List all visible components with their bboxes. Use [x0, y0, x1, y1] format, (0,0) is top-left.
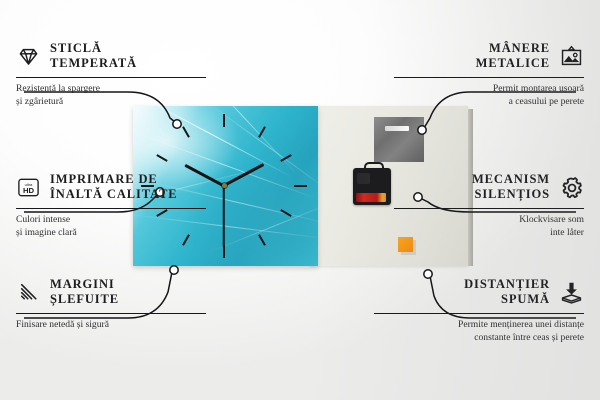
feature-divider [394, 208, 584, 210]
picture-hanger-icon [559, 44, 584, 69]
mechanism-housing [357, 173, 370, 184]
feature-header: DISTANȚIER SPUMĂ [374, 277, 584, 308]
feature-divider [16, 208, 206, 210]
feature-tempered-glass: STICLĂ TEMPERATĂ Rezistentă la spargere … [16, 41, 206, 109]
feature-polished-edges: MARGINI ȘLEFUITE Finisare netedă și sigu… [16, 277, 206, 332]
hanger-slot [385, 126, 409, 131]
feature-subtitle: Klockvisare som inte låter [394, 214, 584, 240]
feature-header: MECANISM SILENȚIOS [394, 172, 584, 203]
foam-spacer-icon [559, 280, 584, 305]
feature-subtitle: Permite menținerea unei distanțe constan… [374, 319, 584, 345]
feature-title: MARGINI ȘLEFUITE [50, 277, 119, 308]
feature-divider [16, 313, 206, 315]
polished-edges-icon [16, 280, 41, 305]
infographic-canvas: STICLĂ TEMPERATĂ Rezistentă la spargere … [0, 0, 600, 400]
feature-title: IMPRIMARE DE ÎNALTĂ CALITATE [50, 172, 178, 203]
feature-silent-mechanism: MECANISM SILENȚIOS Klockvisare som inte … [394, 172, 584, 240]
feature-subtitle: Finisare netedă și sigură [16, 319, 206, 332]
feature-foam-spacer: DISTANȚIER SPUMĂ Permite menținerea unei… [374, 277, 584, 345]
feature-title: MÂNERE METALICE [476, 41, 550, 72]
gear-icon [559, 175, 584, 200]
diamond-icon [16, 44, 41, 69]
svg-text:HD: HD [23, 186, 35, 195]
feature-title: MECANISM SILENȚIOS [472, 172, 550, 203]
feature-header: ultra HD IMPRIMARE DE ÎNALTĂ CALITATE [16, 172, 206, 203]
feature-subtitle: Rezistentă la spargere și zgârietură [16, 83, 206, 109]
feature-header: MARGINI ȘLEFUITE [16, 277, 206, 308]
feature-subtitle: Permit montarea ușoară a ceasului pe per… [394, 83, 584, 109]
mechanism-hook [364, 162, 384, 173]
metal-hanger-plate [374, 117, 424, 162]
feature-hd-print: ultra HD IMPRIMARE DE ÎNALTĂ CALITATE Cu… [16, 172, 206, 240]
feature-metal-hangers: MÂNERE METALICE Permit montarea ușoară a… [394, 41, 584, 109]
battery [356, 193, 386, 202]
feature-divider [394, 77, 584, 79]
feature-title: DISTANȚIER SPUMĂ [464, 277, 550, 308]
feature-divider [16, 77, 206, 79]
feature-divider [374, 313, 584, 315]
ultra-hd-badge-icon: ultra HD [16, 175, 41, 200]
feature-subtitle: Culori intense și imagine clară [16, 214, 206, 240]
clock-mechanism [353, 168, 391, 205]
feature-title: STICLĂ TEMPERATĂ [50, 41, 137, 72]
feature-header: STICLĂ TEMPERATĂ [16, 41, 206, 72]
feature-header: MÂNERE METALICE [394, 41, 584, 72]
clock-center-pin [222, 183, 227, 188]
